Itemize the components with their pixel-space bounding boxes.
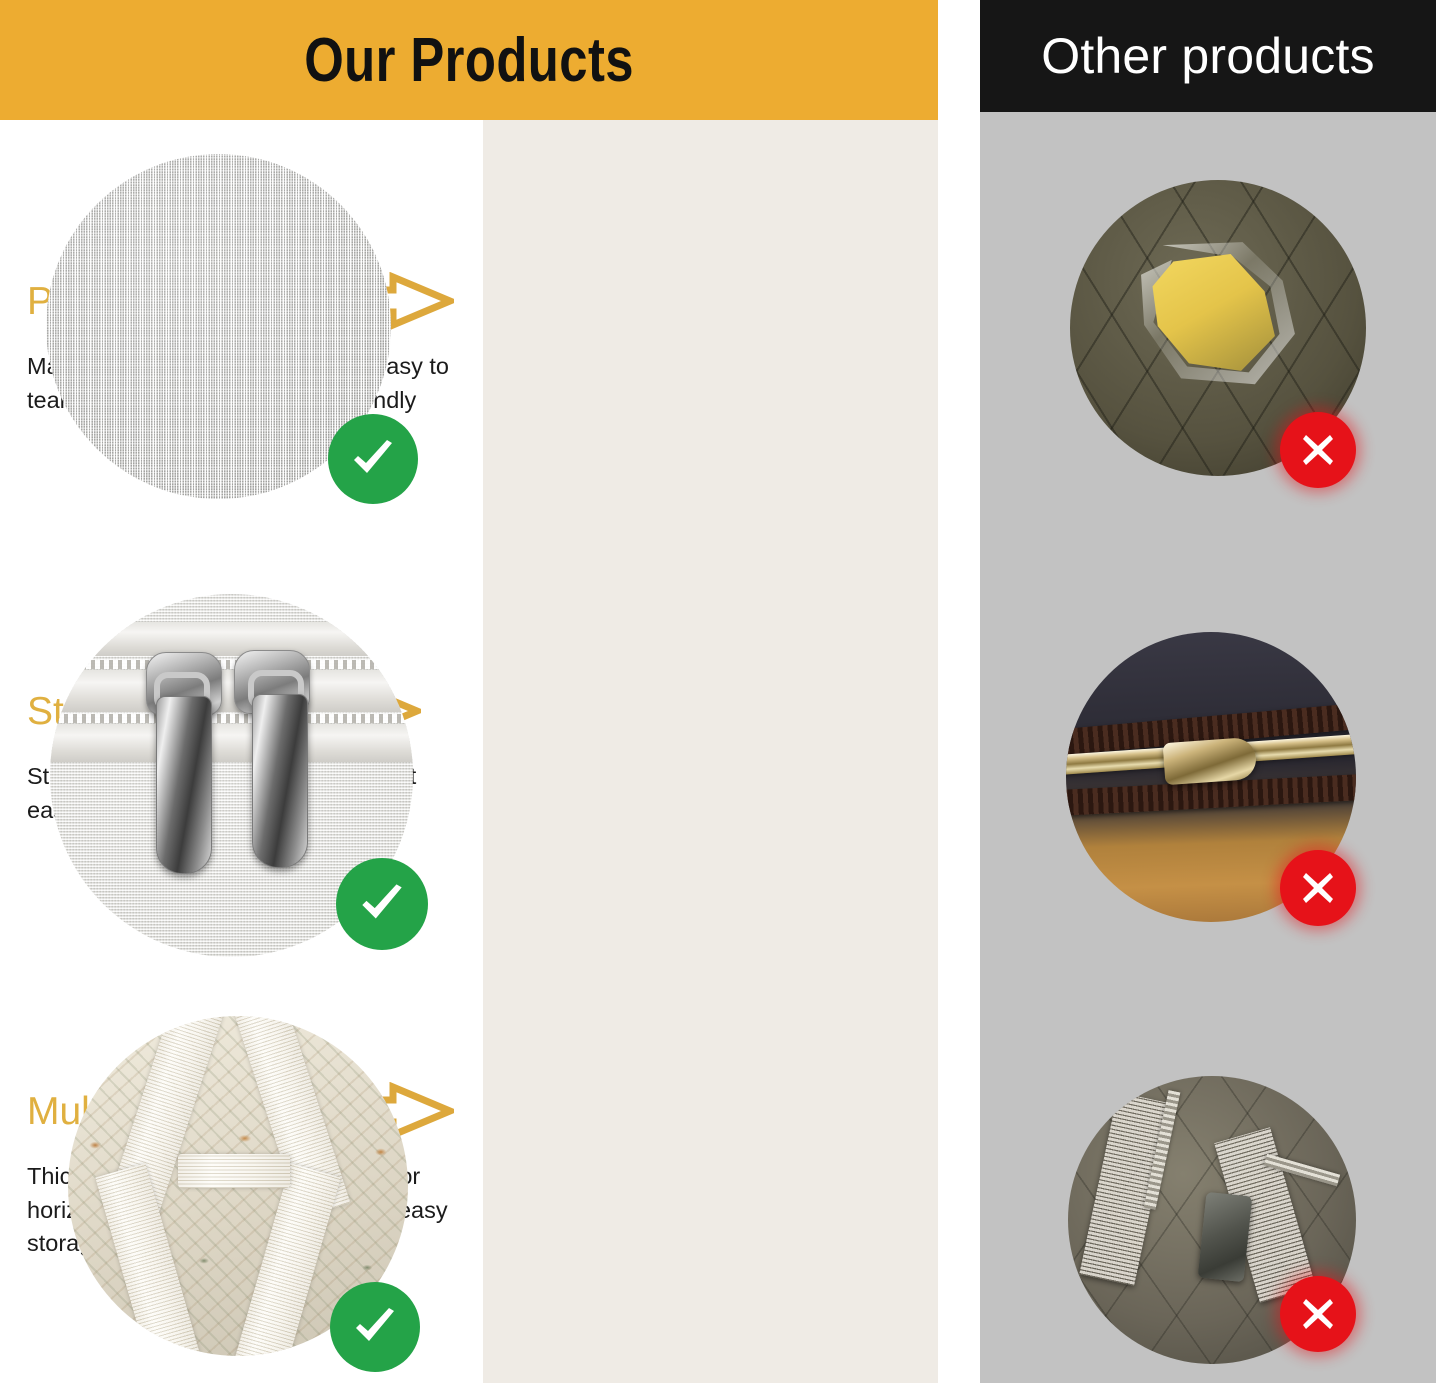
status-badge-check-fabrics	[328, 414, 418, 504]
status-badge-cross-handles	[1280, 1276, 1356, 1352]
product-comparison-infographic: Our Products Other products Premium fabr…	[0, 0, 1436, 1383]
check-icon	[345, 431, 401, 487]
webbing-strap-bottom-left	[95, 1163, 208, 1356]
zipper-pull-left	[156, 696, 212, 874]
our-products-panel: Premium fabrics Made of 12oz cotton canv…	[0, 120, 938, 1383]
our-products-header: Our Products	[0, 0, 938, 120]
our-products-title: Our Products	[304, 25, 634, 96]
webbing-strap-cross	[178, 1154, 290, 1188]
zipper-teeth-lower	[50, 714, 413, 723]
zipper-teeth-upper	[50, 660, 413, 669]
status-badge-check-handles	[330, 1282, 420, 1372]
zipper-tape-middle	[50, 670, 413, 712]
webbing-strap-bottom-right	[227, 1163, 340, 1356]
status-badge-cross-zippers	[1280, 850, 1356, 926]
check-icon	[353, 875, 411, 933]
check-icon	[347, 1299, 403, 1355]
other-products-header: Other products	[980, 0, 1436, 112]
cross-icon	[1294, 1290, 1342, 1338]
our-products-photo-column	[483, 120, 938, 1383]
cross-icon	[1294, 864, 1342, 912]
zipper-pull-right	[252, 694, 308, 868]
broken-zipper-slider	[1163, 737, 1258, 785]
zipper-tape-upper	[50, 622, 413, 656]
other-products-title: Other products	[1041, 27, 1375, 85]
broken-handle-buckle	[1198, 1192, 1253, 1282]
status-badge-check-zippers	[336, 858, 428, 950]
cross-icon	[1294, 426, 1342, 474]
status-badge-cross-fabrics	[1280, 412, 1356, 488]
other-products-panel	[980, 112, 1436, 1383]
zipper-tape-lower	[50, 724, 413, 762]
